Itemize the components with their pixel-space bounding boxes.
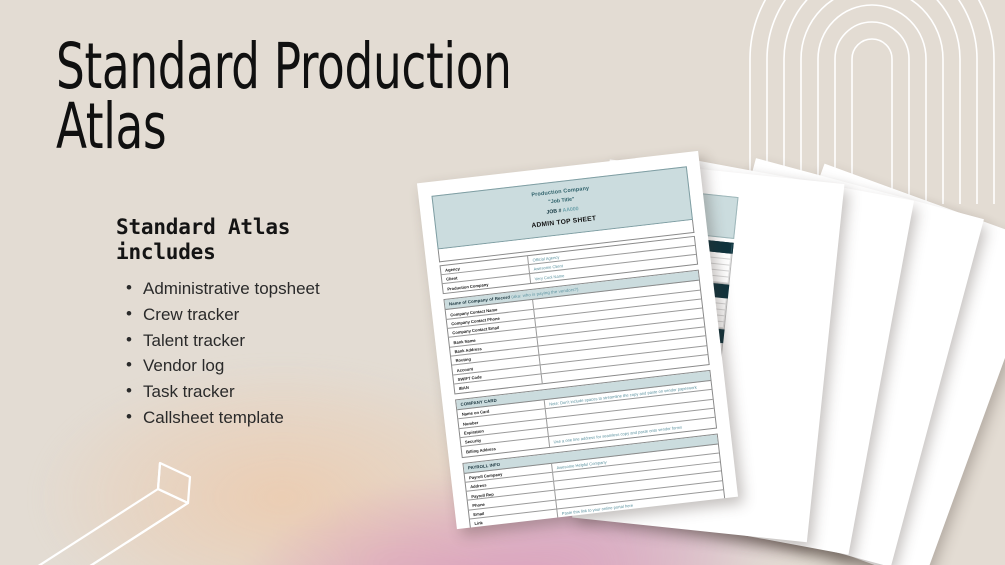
title-line-2: Atlas: [56, 97, 536, 157]
list-item: Vendor log: [126, 353, 486, 379]
3d-bar-decoration: [0, 441, 254, 565]
job-number-label: JOB #: [546, 208, 562, 216]
list-item: Task tracker: [126, 379, 486, 405]
admin-topsheet-document[interactable]: Production Company "Job Title" JOB # AA0…: [417, 151, 738, 529]
subtitle-line-1: Standard Atlas: [116, 215, 446, 240]
list-item: Callsheet template: [126, 405, 486, 431]
subtitle-line-2: includes: [116, 240, 446, 265]
list-item: Talent tracker: [126, 328, 486, 354]
page-title: Standard Production Atlas: [56, 37, 536, 157]
subtitle: Standard Atlas includes: [116, 215, 446, 265]
title-line-1: Standard Production: [56, 37, 536, 97]
job-number-value: AA000: [562, 206, 579, 214]
